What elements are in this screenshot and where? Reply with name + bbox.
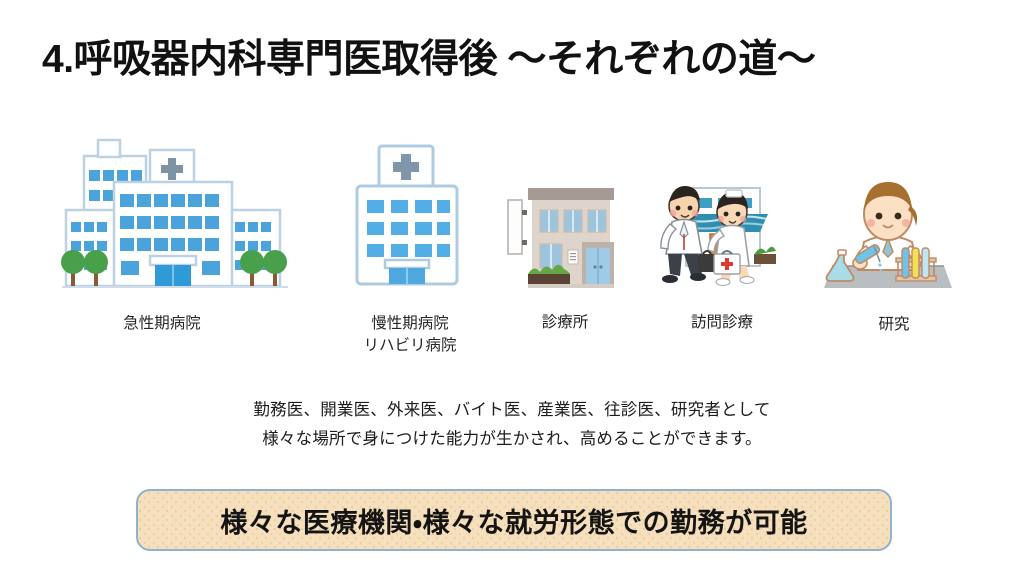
summary-banner: 様々な医療機関・様々な就労形態での勤務が可能 bbox=[136, 489, 892, 551]
caption-line: リハビリ病院 bbox=[363, 337, 456, 354]
test-tube-rack-icon bbox=[896, 248, 936, 281]
caption-line: 診療所 bbox=[542, 314, 589, 331]
description-line-1: 勤務医、開業医、外来医、バイト医、産業医、往診医、研究者として bbox=[0, 396, 1024, 425]
caption-acute-care-hospital: 急性期病院 bbox=[62, 313, 262, 335]
research-illustration bbox=[818, 166, 958, 318]
first-aid-kit-icon bbox=[714, 251, 740, 274]
illustration-row bbox=[0, 118, 1024, 318]
caption-chronic-care-hospital: 慢性期病院 リハビリ病院 bbox=[305, 313, 515, 358]
caption-line: 急性期病院 bbox=[123, 315, 201, 332]
caption-clinic: 診療所 bbox=[490, 312, 640, 334]
clinic-illustration bbox=[506, 178, 624, 318]
summary-banner-text: 様々な医療機関・様々な就労形態での勤務が可能 bbox=[220, 501, 807, 540]
page-title: 4.呼吸器内科専門医取得後 ～それぞれの道～ bbox=[42, 28, 815, 84]
home-visit-illustration bbox=[648, 162, 788, 318]
caption-line: 慢性期病院 bbox=[371, 315, 449, 332]
chronic-care-hospital-illustration bbox=[345, 142, 473, 318]
caption-line: 訪問診療 bbox=[691, 314, 753, 331]
caption-research: 研究 bbox=[824, 314, 964, 336]
caption-line: 研究 bbox=[878, 316, 909, 333]
caption-home-visit: 訪問診療 bbox=[648, 312, 796, 334]
acute-care-hospital-illustration bbox=[58, 128, 308, 318]
description-text: 勤務医、開業医、外来医、バイト医、産業医、往診医、研究者として 様々な場所で身に… bbox=[0, 396, 1024, 454]
slide-canvas: 4.呼吸器内科専門医取得後 ～それぞれの道～ bbox=[0, 0, 1024, 576]
description-line-2: 様々な場所で身につけた能力が生かされ、高めることができます。 bbox=[0, 425, 1024, 454]
